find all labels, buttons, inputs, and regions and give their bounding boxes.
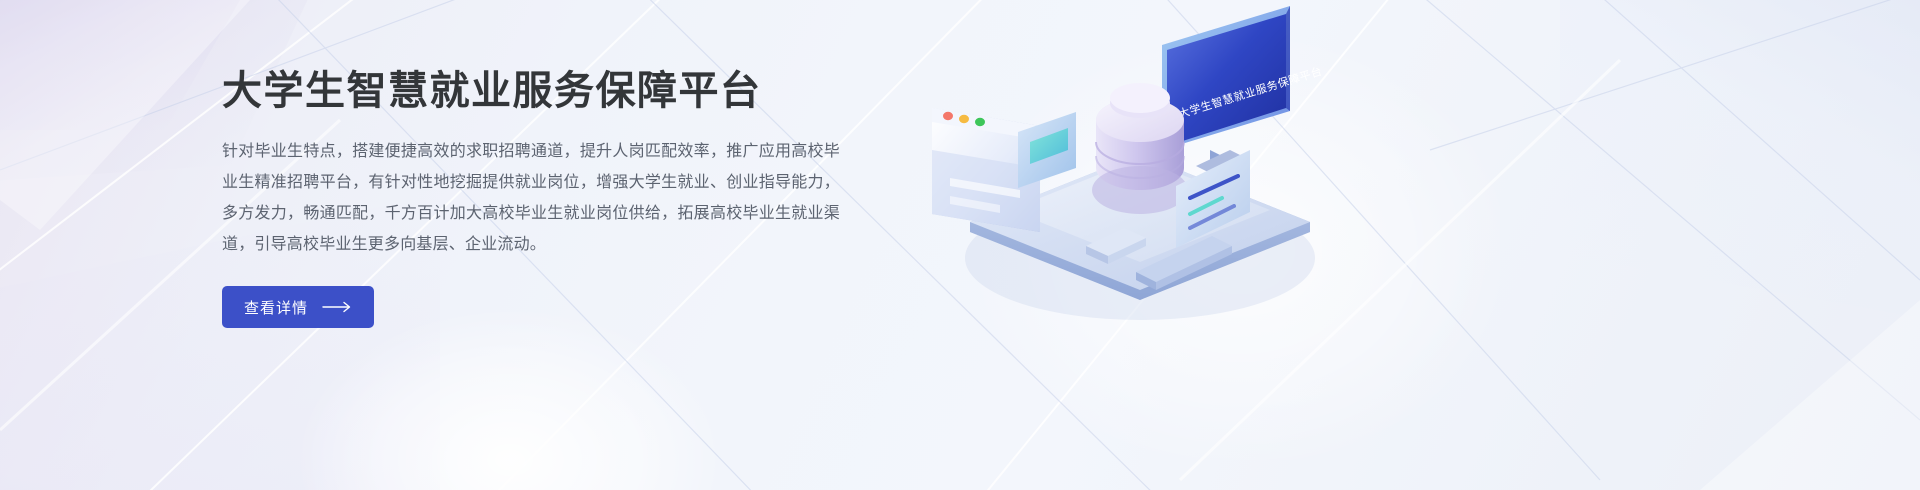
dot-yellow [959, 115, 969, 123]
page-title: 大学生智慧就业服务保障平台 [222, 68, 862, 114]
dot-red [943, 112, 953, 120]
banner-description: 针对毕业生特点，搭建便捷高效的求职招聘通道，提升人岗匹配效率，推广应用高校毕业生… [222, 136, 840, 260]
view-details-label: 查看详情 [244, 297, 308, 318]
tower-base-disc [1092, 166, 1188, 214]
hero-banner: 大学生智慧就业服务保障平台 针对毕业生特点，搭建便捷高效的求职招聘通道，提升人岗… [0, 0, 1920, 490]
decor-plate-right [1560, 0, 1920, 346]
decor-glow-left [300, 310, 720, 490]
isometric-illustration: 大学生智慧就业服务保障平台 [890, 0, 1390, 330]
teal-card [1018, 112, 1076, 188]
banner-content: 大学生智慧就业服务保障平台 针对毕业生特点，搭建便捷高效的求职招聘通道，提升人岗… [222, 68, 862, 328]
dot-green [975, 118, 985, 126]
view-details-button[interactable]: 查看详情 [222, 286, 374, 328]
monitor: 大学生智慧就业服务保障平台 [1162, 6, 1324, 174]
arrow-right-icon [322, 301, 352, 313]
